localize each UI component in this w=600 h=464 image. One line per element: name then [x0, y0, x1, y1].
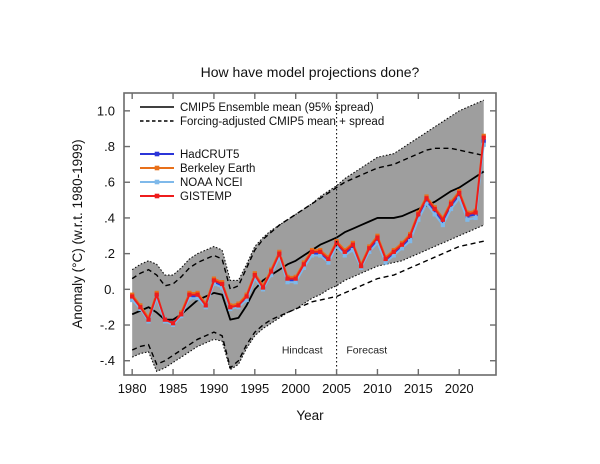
data-point-marker	[130, 294, 134, 298]
x-tick-label: 1995	[240, 381, 269, 396]
data-point-marker	[359, 264, 363, 268]
legend-marker	[155, 194, 160, 199]
data-point-marker	[441, 223, 445, 227]
data-point-marker	[171, 321, 175, 325]
legend-label: HadCRUT5	[180, 149, 239, 161]
data-point-marker	[155, 293, 159, 297]
data-point-marker	[179, 312, 183, 316]
data-point-marker	[473, 216, 477, 220]
data-point-marker	[465, 212, 469, 216]
data-point-marker	[253, 273, 257, 277]
legend-label: Berkeley Earth	[180, 163, 255, 175]
model-projections-chart: HindcastForecast-.4-.20..2.4.6.81.019801…	[0, 0, 600, 464]
data-point-marker	[351, 243, 355, 247]
y-tick-label: 0.	[104, 282, 115, 297]
x-tick-label: 2020	[445, 381, 474, 396]
annotation-forecast: Forecast	[346, 345, 387, 357]
data-point-marker	[212, 278, 216, 282]
data-point-marker	[146, 318, 150, 322]
data-point-marker	[228, 305, 232, 309]
y-tick-label: .6	[104, 175, 115, 190]
x-tick-label: 2000	[281, 381, 310, 396]
data-point-marker	[318, 250, 322, 254]
y-tick-label: .8	[104, 139, 115, 154]
data-point-marker	[269, 269, 273, 273]
data-point-marker	[416, 212, 420, 216]
data-point-marker	[408, 234, 412, 238]
legend-label: GISTEMP	[180, 191, 232, 203]
data-point-marker	[302, 262, 306, 266]
data-point-marker	[294, 277, 298, 281]
data-point-marker	[138, 305, 142, 309]
legend-marker	[155, 166, 160, 171]
legend-marker	[155, 180, 160, 185]
data-point-marker	[245, 294, 249, 298]
data-point-marker	[457, 191, 461, 195]
x-tick-label: 2005	[322, 381, 351, 396]
x-tick-label: 1985	[159, 381, 188, 396]
data-point-marker	[375, 235, 379, 239]
x-tick-label: 2010	[363, 381, 392, 396]
x-tick-label: 1990	[199, 381, 228, 396]
data-point-marker	[310, 250, 314, 254]
data-point-marker	[433, 212, 437, 216]
data-point-marker	[433, 207, 437, 211]
data-point-marker	[367, 246, 371, 250]
legend-label: Forcing-adjusted CMIP5 mean + spread	[180, 116, 384, 128]
y-tick-label: .2	[104, 246, 115, 261]
data-point-marker	[473, 210, 477, 214]
data-point-marker	[285, 277, 289, 281]
data-point-marker	[441, 218, 445, 222]
data-point-marker	[343, 250, 347, 254]
y-tick-label: -.2	[100, 318, 115, 333]
data-point-marker	[465, 218, 469, 222]
data-point-marker	[163, 318, 167, 322]
data-point-marker	[424, 196, 428, 200]
data-point-marker	[392, 250, 396, 254]
data-point-marker	[400, 243, 404, 247]
data-point-marker	[408, 239, 412, 243]
data-point-marker	[236, 303, 240, 307]
data-point-marker	[261, 285, 265, 289]
y-axis-title: Anomaly (°C) (w.r.t. 1980-1999)	[70, 139, 85, 328]
y-tick-label: -.4	[100, 353, 115, 368]
x-tick-label: 2015	[404, 381, 433, 396]
y-tick-label: .4	[104, 210, 115, 225]
data-point-marker	[187, 293, 191, 297]
data-point-marker	[384, 257, 388, 261]
data-point-marker	[326, 257, 330, 261]
legend-marker	[155, 152, 160, 157]
legend-label: NOAA NCEI	[180, 177, 243, 189]
data-point-marker	[277, 252, 281, 256]
chart-title: How have model projections done?	[201, 64, 420, 80]
data-point-marker	[204, 303, 208, 307]
x-axis-title: Year	[296, 408, 324, 423]
legend-label: CMIP5 Ensemble mean (95% spread)	[180, 102, 374, 114]
y-tick-label: 1.0	[97, 103, 115, 118]
data-point-marker	[195, 293, 199, 297]
data-point-marker	[482, 136, 486, 140]
x-tick-label: 1980	[118, 381, 147, 396]
annotation-hindcast: Hindcast	[282, 345, 323, 357]
data-point-marker	[220, 282, 224, 286]
data-point-marker	[449, 202, 453, 206]
figure-container: HindcastForecast-.4-.20..2.4.6.81.019801…	[0, 0, 600, 464]
